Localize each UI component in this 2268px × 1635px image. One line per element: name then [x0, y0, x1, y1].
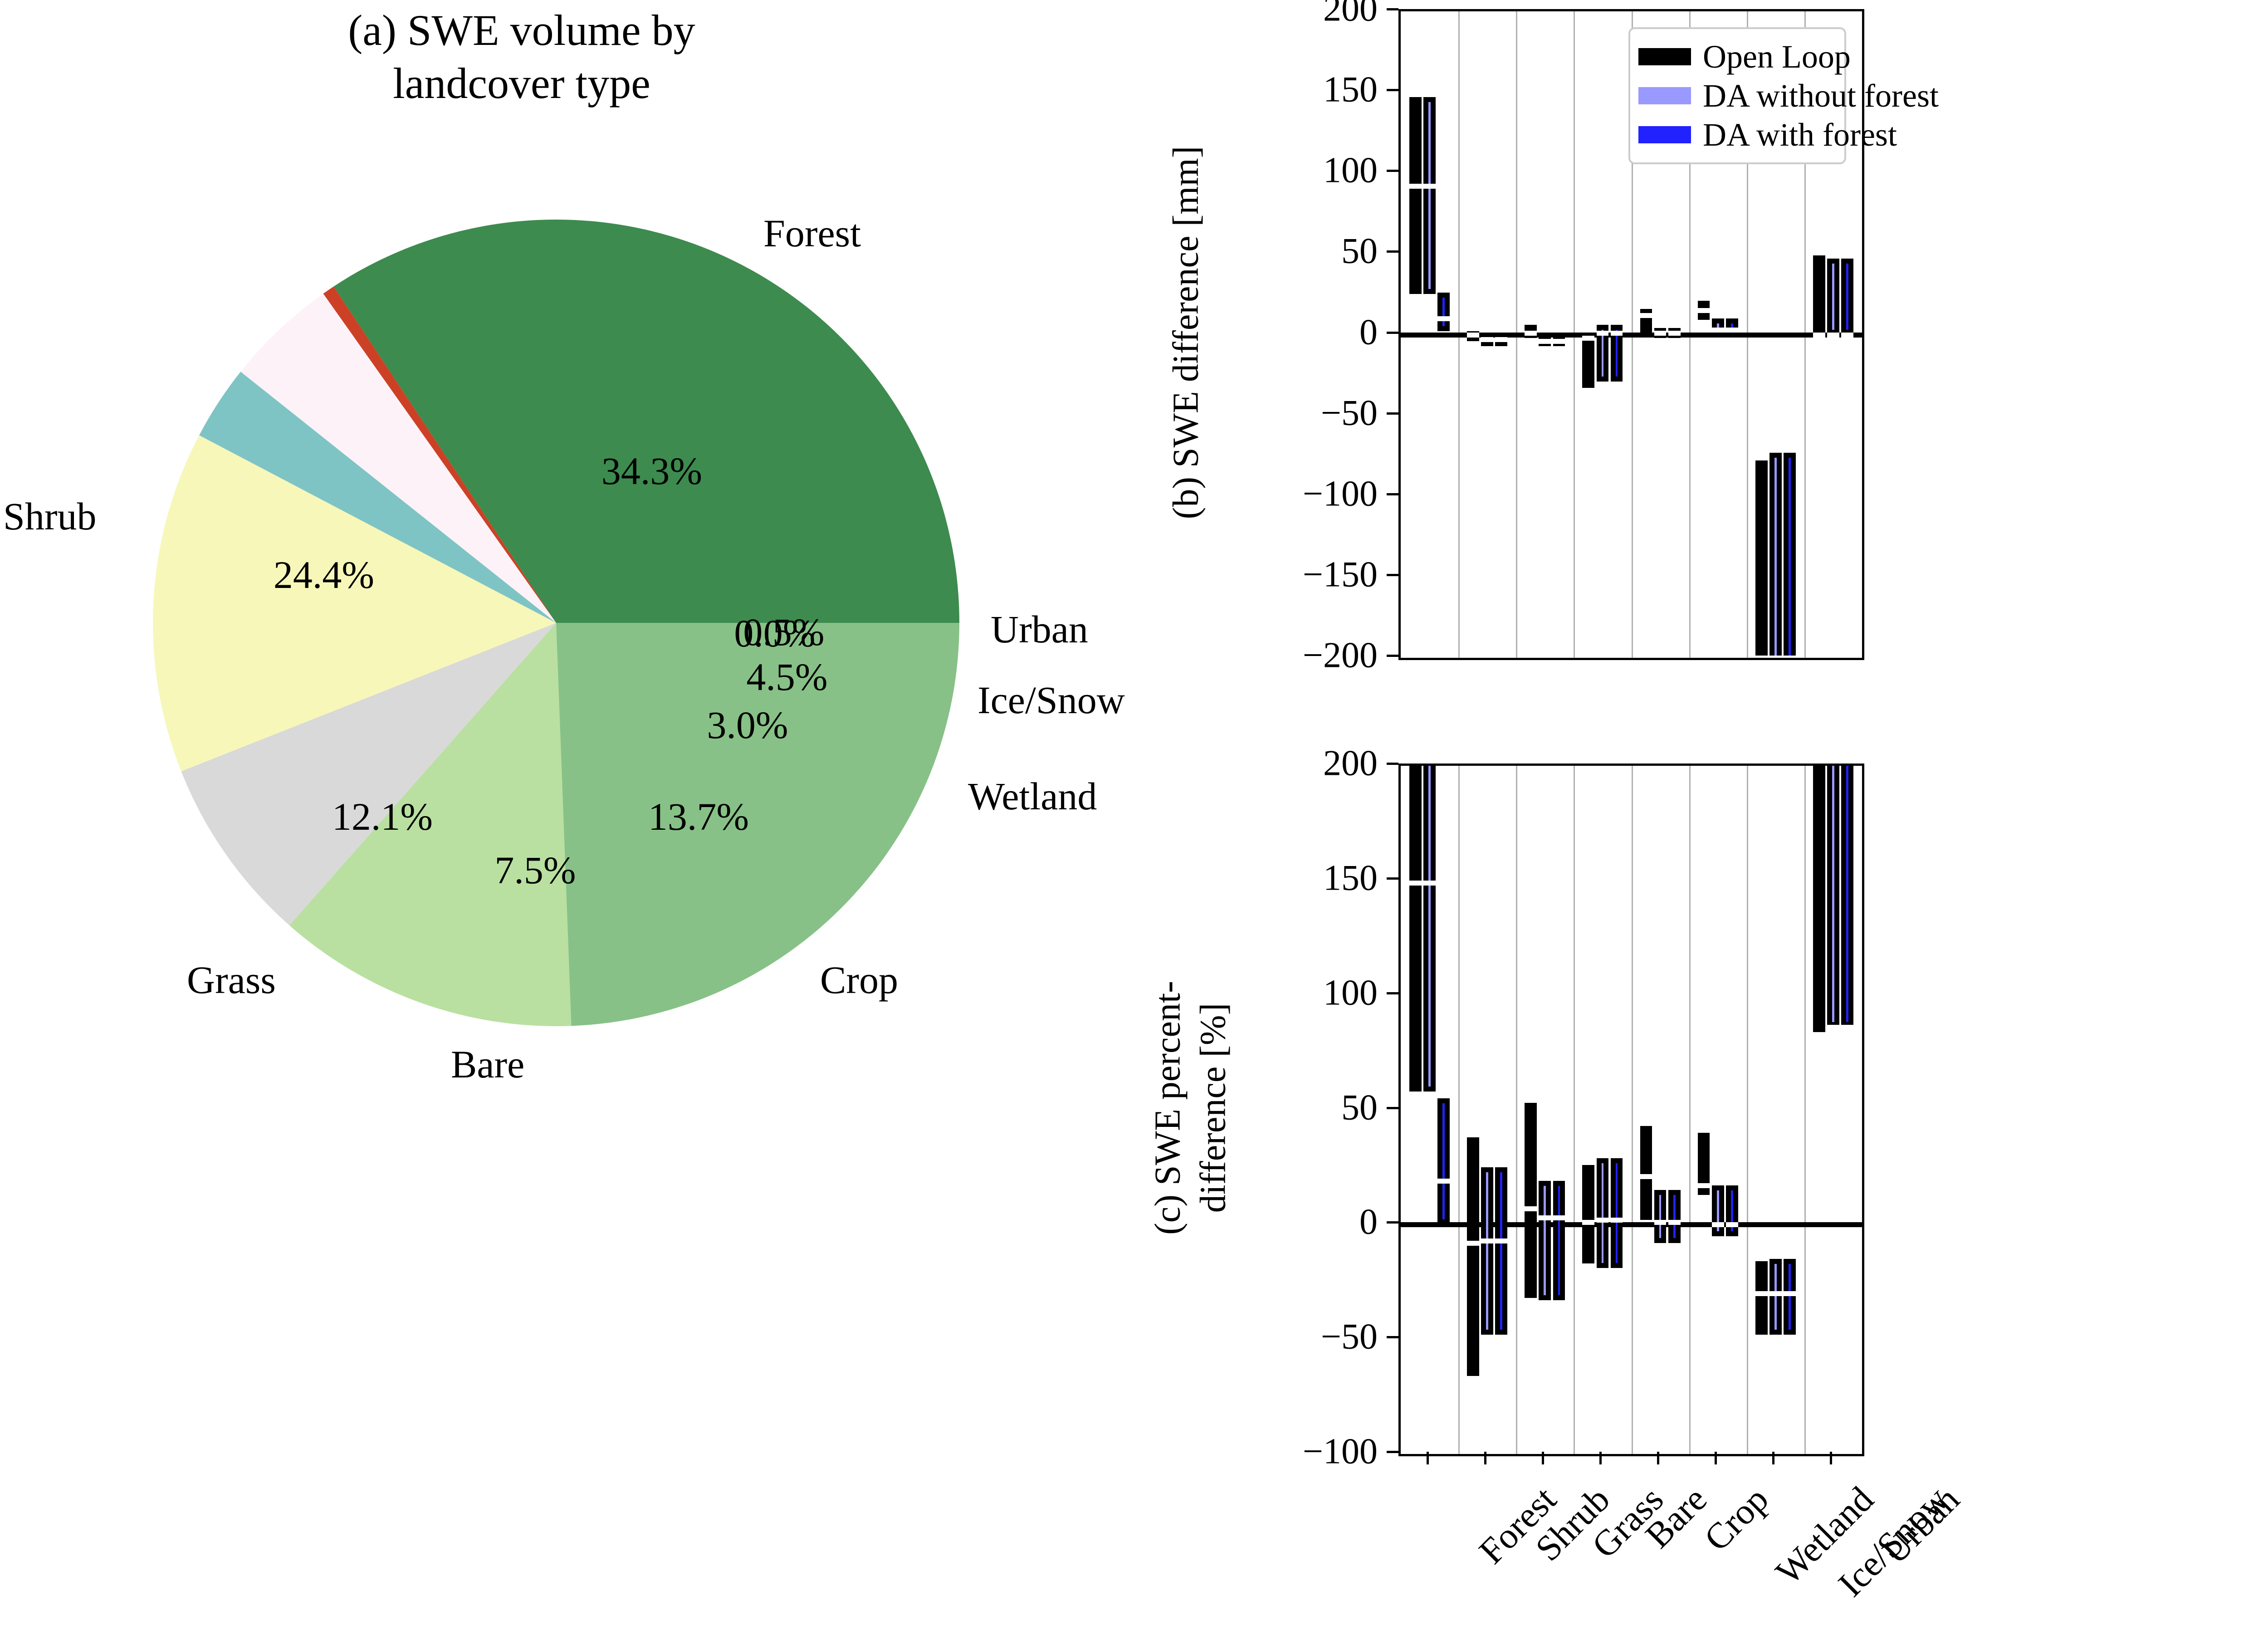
box-urban-da-with-forest: [1841, 764, 1853, 1027]
box-shrub-da-without-forest: [1481, 336, 1493, 346]
box-forest-open-loop: [1409, 97, 1422, 294]
ytick-label: 150: [1125, 857, 1378, 899]
median-line: [1495, 337, 1507, 342]
gridline-vertical: [1689, 766, 1691, 1454]
gridline-vertical: [1632, 766, 1633, 1454]
box-wetland-da-without-forest: [1712, 318, 1724, 336]
xtick-label-crop: Crop: [1696, 1479, 1777, 1559]
ytick-label: −150: [1125, 554, 1378, 595]
legend-swatch-open-loop: [1638, 48, 1691, 65]
gridline-vertical: [1458, 766, 1460, 1454]
box-grass-open-loop: [1525, 325, 1537, 338]
ytick-mark: [1387, 1221, 1398, 1224]
ytick-mark: [1387, 877, 1398, 880]
ytick-label: 50: [1125, 1087, 1378, 1128]
pie-pct-icesnow: 4.5%: [746, 654, 827, 700]
ytick-mark: [1387, 574, 1398, 576]
pie-pct-urban: 0.5%: [743, 609, 824, 655]
xtick-mark: [1427, 1452, 1429, 1464]
box-forest-da-with-forest: [1437, 1098, 1450, 1224]
pie-pct-forest: 34.3%: [601, 448, 702, 494]
median-line: [1481, 337, 1493, 342]
panels-bc-bar-charts: (b) SWE difference [mm] (c) SWE percent-…: [1125, 0, 2268, 1635]
median-line: [1423, 184, 1436, 189]
median-line: [1597, 1218, 1609, 1223]
box-urban-da-with-forest: [1841, 259, 1853, 334]
pie-wedges: [153, 220, 959, 1026]
box-shrub-open-loop: [1467, 331, 1479, 341]
xtick-mark: [1772, 1452, 1774, 1464]
median-line: [1539, 1215, 1551, 1220]
median-line: [1698, 308, 1710, 313]
legend-item-da-without-forest: DA without forest: [1638, 76, 1834, 115]
box-forest-da-with-forest: [1437, 293, 1450, 332]
box-ice-snow-open-loop: [1755, 1261, 1768, 1335]
legend-swatch-da-with-forest: [1638, 126, 1691, 143]
ytick-mark: [1387, 1451, 1398, 1453]
ytick-label: 100: [1125, 150, 1378, 191]
box-forest-da-without-forest: [1423, 97, 1436, 294]
pie-pct-grass: 12.1%: [332, 794, 433, 839]
median-line: [1726, 328, 1738, 333]
ytick-mark: [1387, 763, 1398, 765]
ytick-label: 200: [1125, 743, 1378, 784]
box-ice-snow-open-loop: [1755, 460, 1768, 660]
ytick-label: 150: [1125, 69, 1378, 111]
pie-label-urban: Urban: [991, 607, 1088, 652]
legend-swatch-da-without-forest: [1638, 87, 1691, 104]
median-line: [1409, 881, 1422, 886]
legend-item-da-with-forest: DA with forest: [1638, 115, 1834, 154]
box-grass-da-without-forest: [1539, 336, 1551, 346]
legend-item-open-loop: Open Loop: [1638, 37, 1834, 76]
xtick-mark: [1830, 1452, 1832, 1464]
ytick-label: −50: [1125, 392, 1378, 434]
ytick-mark: [1387, 89, 1398, 91]
median-line: [1726, 1222, 1738, 1227]
median-line: [1827, 1025, 1839, 1030]
pie-title-line-1: (a) SWE volume by: [91, 4, 953, 57]
median-line: [1437, 1179, 1450, 1184]
gridline-vertical: [1516, 766, 1517, 1454]
median-line: [1712, 1222, 1724, 1227]
box-shrub-open-loop: [1467, 1137, 1479, 1376]
box-bare-open-loop: [1582, 1165, 1594, 1263]
box-urban-open-loop: [1813, 764, 1825, 1034]
box-ice-snow-da-without-forest: [1769, 453, 1782, 660]
median-line: [1668, 331, 1681, 336]
box-grass-da-with-forest: [1553, 1181, 1565, 1300]
median-line: [1582, 1220, 1594, 1225]
box-crop-da-without-forest: [1654, 1190, 1667, 1243]
legend-label-da-with-forest: DA with forest: [1703, 116, 1897, 154]
box-shrub-da-with-forest: [1495, 336, 1507, 346]
box-grass-da-without-forest: [1539, 1181, 1551, 1300]
pie-label-bare: Bare: [451, 1042, 524, 1087]
box-crop-da-without-forest: [1654, 328, 1667, 338]
xtick-mark: [1715, 1452, 1717, 1464]
median-line: [1755, 656, 1768, 660]
ytick-mark: [1387, 8, 1398, 10]
box-wetland-da-with-forest: [1726, 318, 1738, 336]
box-crop-open-loop: [1640, 309, 1652, 333]
ytick-label: 0: [1125, 312, 1378, 353]
median-line: [1784, 656, 1796, 660]
pie-chart-title: (a) SWE volume by landcover type: [91, 4, 953, 110]
ytick-mark: [1387, 493, 1398, 495]
box-wetland-open-loop: [1698, 1133, 1710, 1195]
median-line: [1841, 1025, 1853, 1030]
median-line: [1553, 1215, 1565, 1220]
median-line: [1813, 1032, 1825, 1037]
box-forest-open-loop: [1409, 764, 1422, 1092]
box-bare-da-with-forest: [1611, 325, 1623, 382]
ytick-label: −200: [1125, 635, 1378, 676]
pie-pct-crop: 13.7%: [648, 794, 749, 839]
panel-a-pie-chart: (a) SWE volume by landcover type 34.3% 0…: [0, 0, 1125, 1635]
ytick-label: −50: [1125, 1317, 1378, 1358]
box-ice-snow-da-without-forest: [1769, 1259, 1782, 1335]
median-line: [1698, 1183, 1710, 1188]
median-line: [1467, 1241, 1479, 1246]
median-line: [1841, 333, 1853, 338]
box-bare-da-with-forest: [1611, 1158, 1623, 1268]
box-wetland-open-loop: [1698, 301, 1710, 320]
gridline-vertical: [1747, 766, 1748, 1454]
xtick-mark: [1657, 1452, 1659, 1464]
box-bare-da-without-forest: [1597, 1158, 1609, 1268]
median-line: [1827, 333, 1839, 338]
box-shrub-da-without-forest: [1481, 1167, 1493, 1335]
median-line: [1668, 1220, 1681, 1225]
legend: Open Loop DA without forest DA with fore…: [1628, 27, 1846, 164]
median-line: [1423, 881, 1436, 886]
pie-title-line-2: landcover type: [91, 57, 953, 110]
median-line: [1525, 1206, 1537, 1211]
ytick-mark: [1387, 170, 1398, 172]
box-urban-open-loop: [1813, 255, 1825, 335]
ytick-mark: [1387, 1336, 1398, 1338]
box-bare-open-loop: [1582, 339, 1594, 388]
ytick-label: −100: [1125, 1431, 1378, 1473]
xtick-mark: [1484, 1452, 1486, 1464]
box-grass-da-with-forest: [1553, 336, 1565, 346]
pie-pct-bare: 7.5%: [494, 847, 576, 893]
box-crop-da-with-forest: [1668, 1190, 1681, 1243]
ytick-mark: [1387, 1107, 1398, 1109]
pie-svg: [153, 220, 959, 1026]
median-line: [1611, 1218, 1623, 1223]
median-line: [1525, 331, 1537, 336]
ytick-mark: [1387, 332, 1398, 334]
ytick-mark: [1387, 250, 1398, 253]
box-shrub-da-with-forest: [1495, 1167, 1507, 1335]
median-line: [1640, 313, 1652, 318]
median-line: [1769, 1291, 1782, 1296]
pie-label-crop: Crop: [820, 957, 898, 1003]
pie-label-wetland: Wetland: [968, 773, 1097, 819]
legend-label-da-without-forest: DA without forest: [1703, 77, 1939, 115]
panel-c-plot-area: [1398, 764, 1864, 1456]
median-line: [1769, 656, 1782, 660]
median-line: [1409, 184, 1422, 189]
median-line: [1495, 1238, 1507, 1243]
median-line: [1481, 1238, 1493, 1243]
ytick-mark: [1387, 992, 1398, 994]
ytick-label: 0: [1125, 1202, 1378, 1243]
pie-label-forest: Forest: [763, 210, 861, 256]
median-line: [1467, 333, 1479, 338]
ytick-label: 100: [1125, 972, 1378, 1013]
ytick-label: −100: [1125, 473, 1378, 514]
xtick-mark: [1542, 1452, 1544, 1464]
ytick-mark: [1387, 412, 1398, 415]
box-urban-da-without-forest: [1827, 259, 1839, 334]
median-line: [1755, 1291, 1768, 1296]
median-line: [1597, 331, 1609, 336]
median-line: [1640, 1174, 1652, 1179]
ytick-label: 200: [1125, 0, 1378, 30]
legend-label-open-loop: Open Loop: [1703, 38, 1851, 76]
median-line: [1437, 316, 1450, 321]
median-line: [1553, 339, 1565, 344]
median-line: [1654, 331, 1667, 336]
pie-pct-shrub: 24.4%: [274, 552, 374, 597]
pie-label-icesnow: Ice/Snow: [978, 677, 1125, 723]
ytick-label: 50: [1125, 231, 1378, 272]
median-line: [1582, 336, 1594, 341]
median-line: [1539, 339, 1551, 344]
median-line: [1654, 1220, 1667, 1225]
gridline-vertical: [1574, 766, 1575, 1454]
median-line: [1784, 1291, 1796, 1296]
box-crop-open-loop: [1640, 1126, 1652, 1220]
box-urban-da-without-forest: [1827, 764, 1839, 1027]
pie-pct-wetland: 3.0%: [707, 702, 788, 748]
box-grass-open-loop: [1525, 1103, 1537, 1298]
pie-label-grass: Grass: [187, 957, 276, 1003]
box-forest-da-without-forest: [1423, 764, 1436, 1092]
median-line: [1813, 333, 1825, 338]
median-line: [1712, 328, 1724, 333]
xtick-mark: [1599, 1452, 1602, 1464]
box-wetland-da-with-forest: [1726, 1185, 1738, 1236]
box-ice-snow-da-with-forest: [1784, 1259, 1796, 1335]
ytick-mark: [1387, 655, 1398, 657]
box-crop-da-with-forest: [1668, 328, 1681, 338]
pie-label-shrub: Shrub: [3, 494, 96, 539]
median-line: [1611, 331, 1623, 336]
gridline-vertical: [1804, 766, 1806, 1454]
box-ice-snow-da-with-forest: [1784, 453, 1796, 660]
box-wetland-da-without-forest: [1712, 1185, 1724, 1236]
box-bare-da-without-forest: [1597, 325, 1609, 382]
